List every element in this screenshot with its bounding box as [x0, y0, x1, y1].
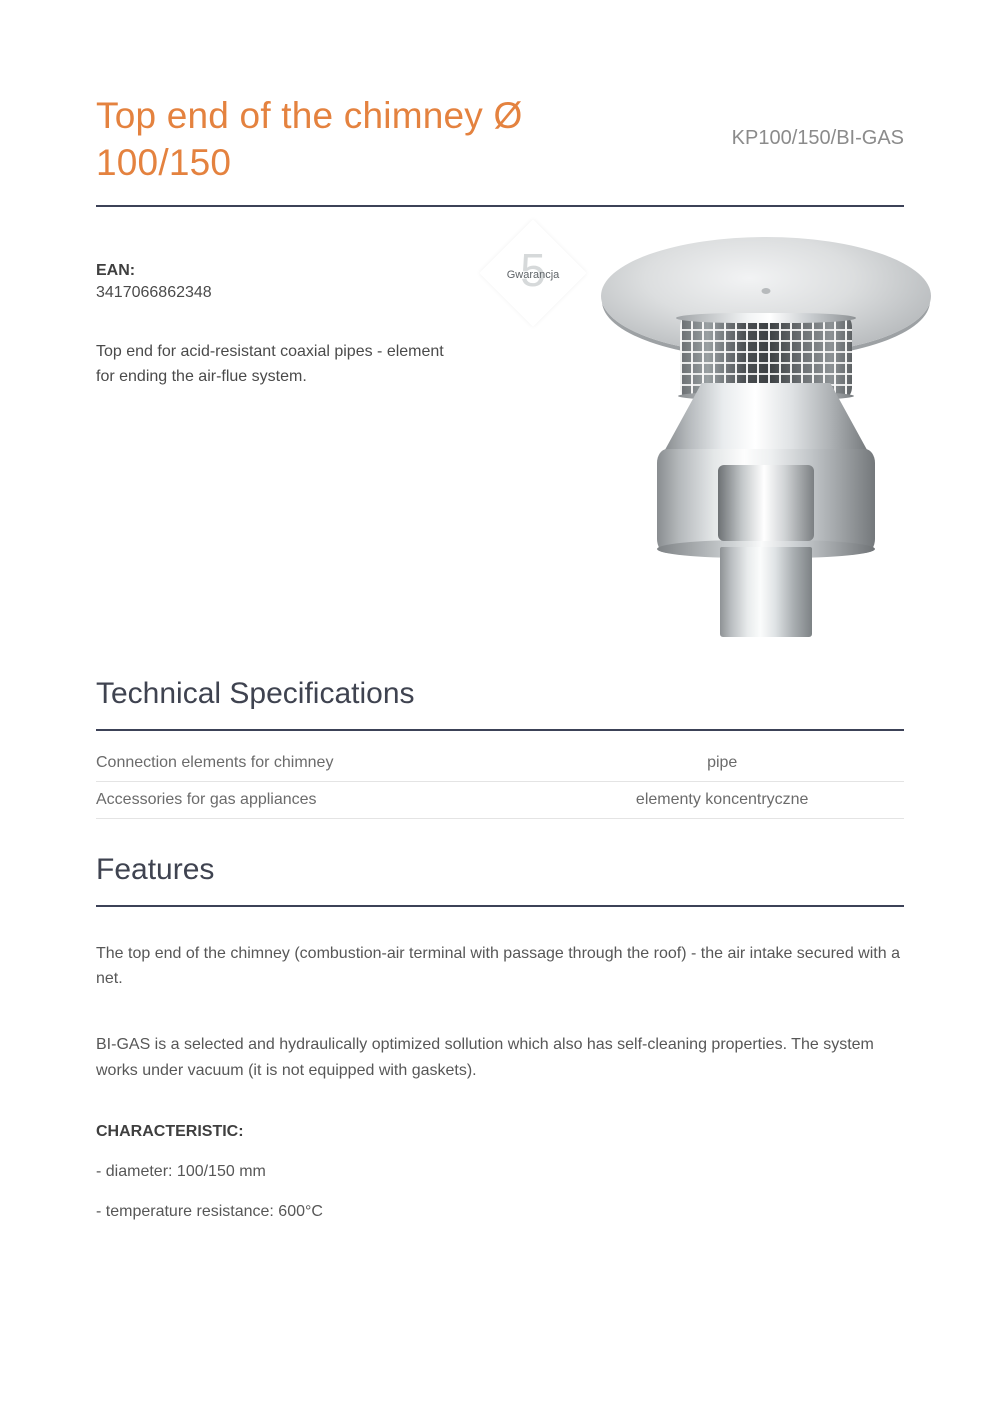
characteristic-heading: CHARACTERISTIC:	[96, 1123, 904, 1141]
ean-label: EAN:	[96, 262, 456, 280]
technical-specifications-heading: Technical Specifications	[96, 677, 904, 711]
page-header: Top end of the chimney Ø 100/150 KP100/1…	[96, 0, 904, 187]
ean-value: 3417066862348	[96, 284, 456, 302]
product-photo: 5 Gwarancja	[481, 217, 1000, 657]
technical-specifications-divider	[96, 729, 904, 731]
feature-paragraph: BI-GAS is a selected and hydraulically o…	[96, 1032, 904, 1083]
chimney-illustration	[601, 237, 931, 637]
spec-key: Connection elements for chimney	[96, 745, 540, 782]
spec-value: elementy koncentryczne	[540, 781, 904, 818]
technical-specifications-section: Technical Specifications Connection elem…	[96, 677, 904, 819]
technical-specifications-table: Connection elements for chimney pipe Acc…	[96, 745, 904, 819]
features-divider	[96, 905, 904, 907]
chimney-outlet-pipe	[720, 547, 812, 637]
features-section: Features The top end of the chimney (com…	[96, 853, 904, 1221]
table-row: Accessories for gas appliances elementy …	[96, 781, 904, 818]
warranty-badge-inner: 5 Gwarancja	[495, 235, 571, 311]
warranty-badge: 5 Gwarancja	[479, 219, 586, 326]
spec-key: Accessories for gas appliances	[96, 781, 540, 818]
characteristic-item: - temperature resistance: 600°C	[96, 1203, 904, 1221]
feature-paragraph: The top end of the chimney (combustion-a…	[96, 941, 904, 992]
characteristic-item: - diameter: 100/150 mm	[96, 1163, 904, 1181]
product-datasheet-page: Top end of the chimney Ø 100/150 KP100/1…	[0, 0, 1000, 1415]
product-description: Top end for acid-resistant coaxial pipes…	[96, 340, 446, 390]
page-title: Top end of the chimney Ø 100/150	[96, 92, 656, 187]
product-overview-section: EAN: 3417066862348 Top end for acid-resi…	[96, 207, 904, 667]
warranty-badge-label: Gwarancja	[507, 268, 560, 280]
spec-value: pipe	[540, 745, 904, 782]
product-info: EAN: 3417066862348 Top end for acid-resi…	[96, 262, 456, 390]
product-sku: KP100/150/BI-GAS	[729, 124, 904, 153]
chimney-inner-throat	[718, 465, 814, 541]
features-heading: Features	[96, 853, 904, 887]
table-row: Connection elements for chimney pipe	[96, 745, 904, 782]
